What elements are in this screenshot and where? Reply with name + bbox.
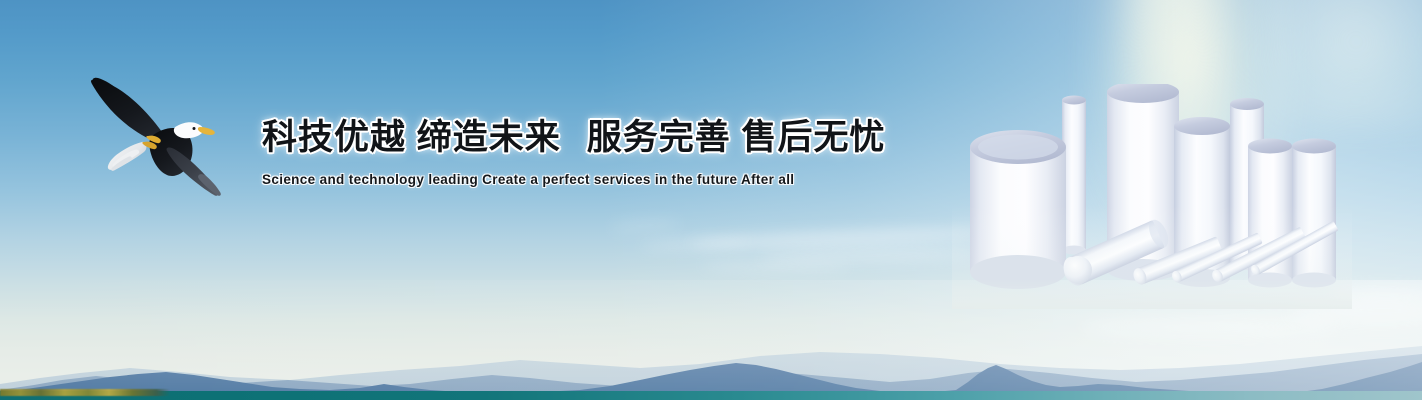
shoreline-vegetation: [0, 389, 170, 396]
bald-eagle-icon: [78, 58, 233, 213]
banner-subline: Science and technology leading Create a …: [262, 172, 822, 187]
eagle-upper-wing-body: [91, 80, 164, 142]
banner-headline: 科技优越 缔造未来服务完善 售后无忧: [262, 116, 822, 160]
headline-segment-1: 科技优越 缔造未来: [262, 118, 561, 157]
lake-water-strip: [0, 391, 1422, 400]
headline-segment-2: 服务完善 售后无忧: [587, 118, 886, 157]
banner-text-block: 科技优越 缔造未来服务完善 售后无忧 Science and technolog…: [262, 116, 822, 187]
product-cylinders-group: [952, 84, 1352, 309]
eagle-eye: [193, 127, 196, 130]
hero-banner: 科技优越 缔造未来服务完善 售后无忧 Science and technolog…: [0, 0, 1422, 400]
